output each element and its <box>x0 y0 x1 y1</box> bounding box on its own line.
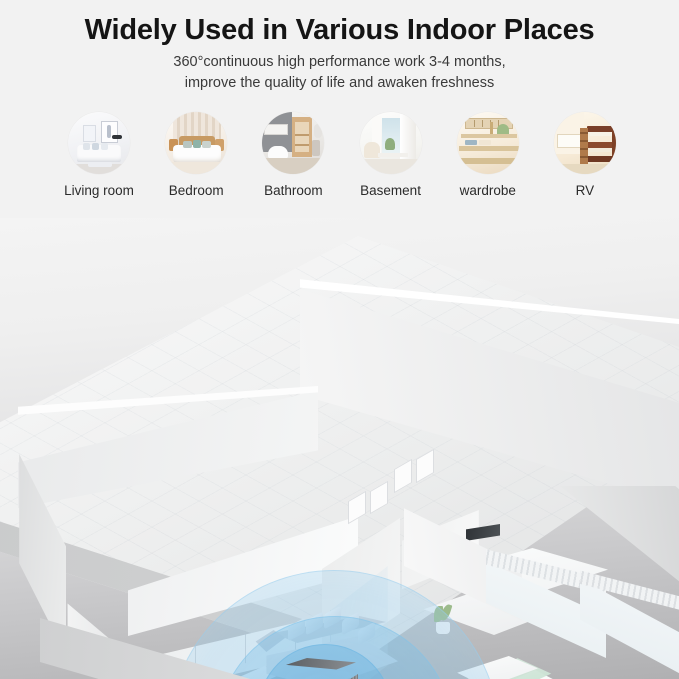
room-label-living-room: Living room <box>64 183 134 198</box>
living-room-thumbnail <box>68 112 130 174</box>
basement-thumbnail <box>360 112 422 174</box>
room-item-bathroom: Bathroom <box>246 112 340 212</box>
room-label-bathroom: Bathroom <box>264 183 323 198</box>
wardrobe-thumbnail <box>457 112 519 174</box>
bathroom-thumbnail <box>262 112 324 174</box>
room-item-rv: RV <box>538 112 632 212</box>
room-item-basement: Basement <box>344 112 438 212</box>
header-section: Widely Used in Various Indoor Places 360… <box>0 0 679 218</box>
room-thumbnail-row: Living room Bedroom <box>52 112 632 212</box>
room-label-bedroom: Bedroom <box>169 183 224 198</box>
page-subtitle: 360°continuous high performance work 3-4… <box>0 52 679 94</box>
room-item-wardrobe: wardrobe <box>441 112 535 212</box>
floorplan-scene <box>0 218 679 679</box>
subtitle-line-2: improve the quality of life and awaken f… <box>0 73 679 94</box>
room-label-basement: Basement <box>360 183 421 198</box>
room-label-wardrobe: wardrobe <box>460 183 516 198</box>
room-label-rv: RV <box>576 183 595 198</box>
bedroom-thumbnail <box>165 112 227 174</box>
purifier-top-panel <box>286 658 356 676</box>
rv-thumbnail <box>554 112 616 174</box>
air-purifier-device <box>284 658 358 679</box>
room-item-living-room: Living room <box>52 112 146 212</box>
product-feature-image: Widely Used in Various Indoor Places 360… <box>0 0 679 679</box>
page-title: Widely Used in Various Indoor Places <box>0 14 679 47</box>
subtitle-line-1: 360°continuous high performance work 3-4… <box>0 52 679 73</box>
room-item-bedroom: Bedroom <box>149 112 243 212</box>
plant-pot <box>436 622 450 634</box>
purifier-filter-grille <box>312 674 358 679</box>
